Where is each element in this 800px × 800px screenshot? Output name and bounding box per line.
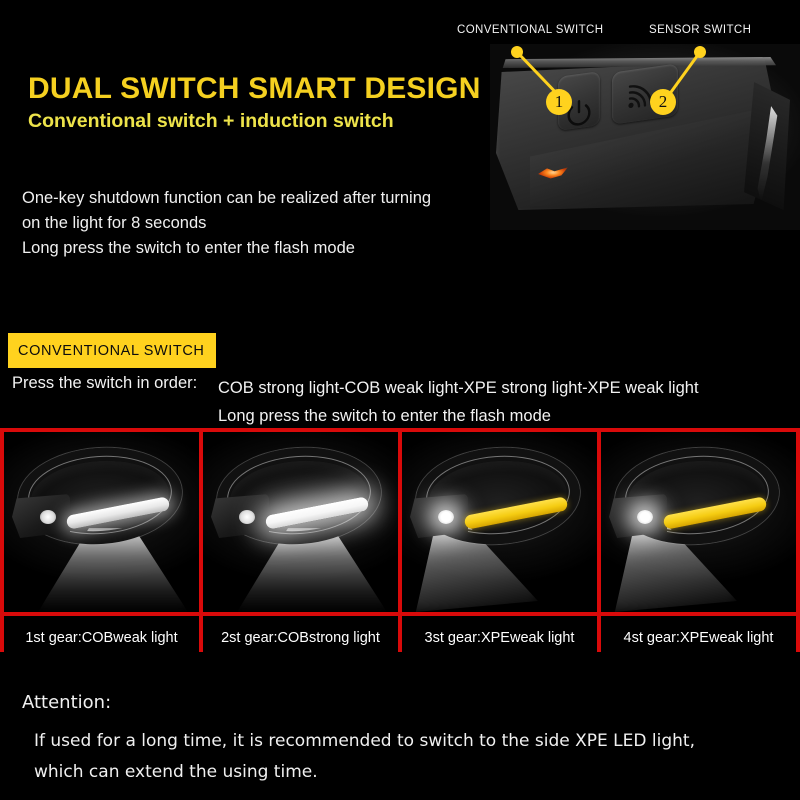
hero-description-line-2: on the light for 8 seconds [22,211,431,236]
gear-image-4 [601,432,796,612]
gear-caption-3: 3st gear:XPEweak light [402,616,597,660]
attention-body: If used for a long time, it is recommend… [34,726,695,788]
press-order-detail: COB strong light-COB weak light-XPE stro… [218,374,699,430]
conventional-switch-badge: CONVENTIONAL SWITCH [8,333,216,368]
gear-scene-2 [203,432,398,612]
hero-description-line-1: One-key shutdown function can be realize… [22,186,431,211]
attention-line-2: which can extend the using time. [34,757,695,788]
gear-caption-1: 1st gear:COBweak light [4,616,199,660]
gear-image-3 [402,432,597,612]
gear-mode-grid: 1st gear:COBweak light 2st gear:COBstron… [0,428,800,652]
gear-scene-3 [402,432,597,612]
xpe-led-3 [438,510,454,524]
callout-number-1: 1 [546,89,572,115]
press-order-label: Press the switch in order: [12,374,197,393]
hero-description: One-key shutdown function can be realize… [22,186,431,261]
page-subtitle: Conventional switch + induction switch [28,110,394,133]
xpe-led-4 [637,510,653,524]
gear-scene-1 [4,432,199,612]
press-order-longpress: Long press the switch to enter the flash… [218,402,699,430]
gear-image-1 [4,432,199,612]
callout-leader-lines [470,20,800,130]
callout-label-sensor-switch: SENSOR SWITCH [649,24,751,36]
xpe-led-1 [40,510,56,524]
callout-number-2: 2 [650,89,676,115]
callout-label-conventional-switch: CONVENTIONAL SWITCH [457,24,603,36]
xpe-led-2 [239,510,255,524]
press-order-sequence: COB strong light-COB weak light-XPE stro… [218,374,699,402]
hero-description-line-3: Long press the switch to enter the flash… [22,236,431,261]
gear-image-2 [203,432,398,612]
gear-caption-4: 4st gear:XPEweak light [601,616,796,660]
infographic-page: CONVENTIONAL SWITCH SENSOR SWITCH 1 2 DU… [0,0,800,800]
gear-scene-4 [601,432,796,612]
attention-line-1: If used for a long time, it is recommend… [34,726,695,757]
attention-title: Attention: [22,692,111,713]
gear-caption-2: 2st gear:COBstrong light [203,616,398,660]
page-title: DUAL SWITCH SMART DESIGN [28,72,481,106]
